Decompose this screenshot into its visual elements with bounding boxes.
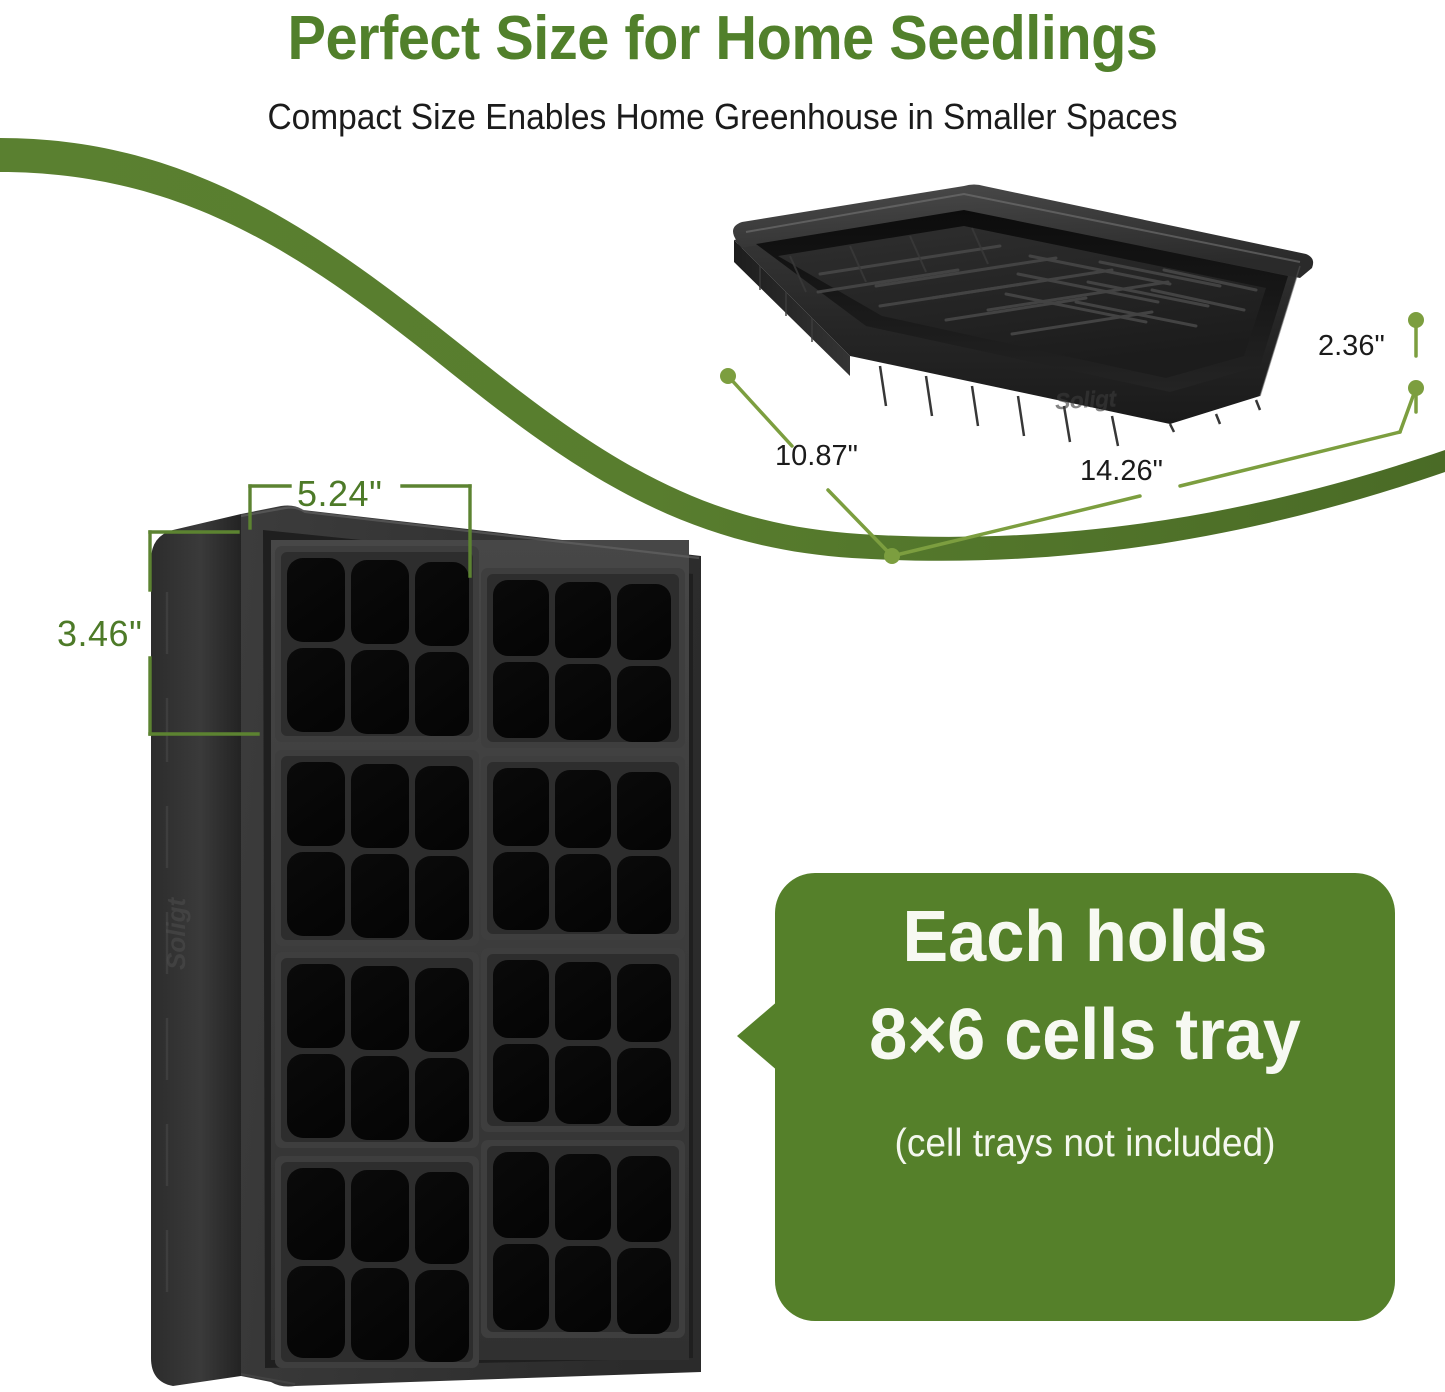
- callout-line-2: 8×6 cells tray: [791, 995, 1380, 1075]
- dimension-label-cell-block-width: 5.24": [297, 473, 382, 515]
- page-title: Perfect Size for Home Seedlings: [51, 6, 1395, 72]
- svg-text:Soligt: Soligt: [161, 896, 191, 970]
- infographic-canvas: Perfect Size for Home Seedlings Compact …: [0, 0, 1445, 1392]
- dimension-lines-right-tray: [700, 160, 1445, 580]
- dimension-label-depth: 10.87": [775, 440, 858, 473]
- dimension-label-length: 14.26": [1080, 455, 1163, 488]
- dimension-label-height: 2.36": [1318, 330, 1385, 363]
- callout-line-1: Each holds: [791, 897, 1380, 977]
- callout-bubble-tail: [737, 1000, 779, 1072]
- callout-line-3: (cell trays not included): [791, 1120, 1380, 1168]
- page-subtitle: Compact Size Enables Home Greenhouse in …: [51, 95, 1395, 139]
- dimension-label-cell-block-height: 3.46": [57, 613, 142, 655]
